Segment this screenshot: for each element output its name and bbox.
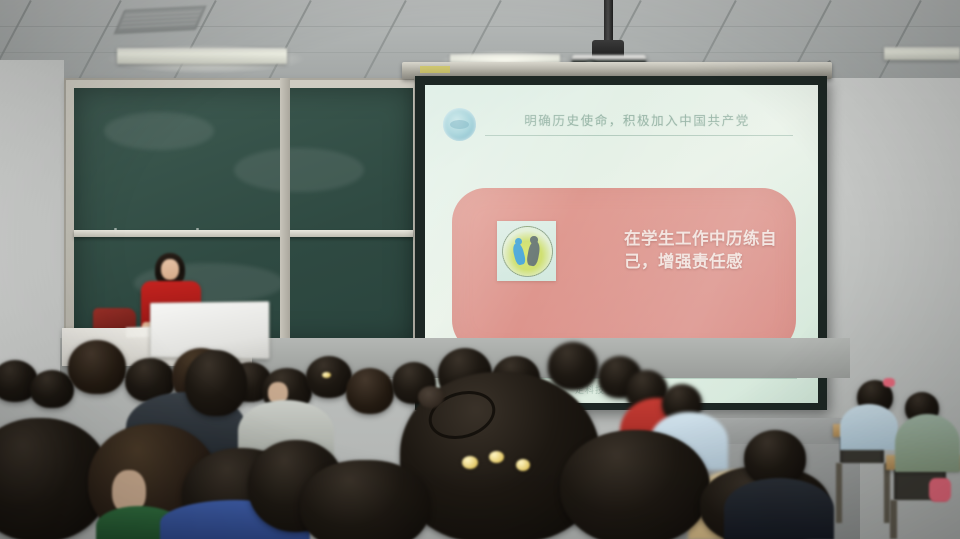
chalkboard-divider <box>280 78 290 350</box>
slide-body-text: 在学生工作中历练自 己，增强责任感 <box>624 228 790 275</box>
left-wall-panel <box>0 60 64 390</box>
classroom-photo: 明确历史使命，积极加入中国共产党 在学生工作中历练自 己，增强责任感 定科技学子… <box>0 0 960 539</box>
hair-clip-icon <box>322 372 331 378</box>
student-head <box>185 350 247 416</box>
student-head <box>346 368 394 414</box>
hair-clip-icon <box>489 451 504 463</box>
student-head-foreground <box>300 460 430 539</box>
desk-leg <box>836 463 842 523</box>
ceiling-air-vent <box>114 6 206 34</box>
chalk-rail <box>74 230 413 237</box>
student-work-association-emblem <box>497 221 556 281</box>
slide-title: 明确历史使命，积极加入中国共产党 <box>487 110 787 132</box>
student-head <box>548 342 598 390</box>
student-head-foreground <box>560 430 710 539</box>
slide-content-box: 在学生工作中历练自 己，增强责任感 <box>452 188 796 354</box>
hair-accessory <box>929 478 951 502</box>
student-head <box>30 370 74 408</box>
student-shoulder <box>724 478 834 539</box>
housing-sticker <box>420 66 450 73</box>
slide-title-divider <box>485 135 793 136</box>
hair-tie <box>418 386 444 408</box>
desk-leg <box>890 500 897 539</box>
university-seal-icon <box>443 108 476 141</box>
student-shoulder <box>840 404 898 450</box>
hair-accessory <box>883 378 895 387</box>
lecturer-face <box>161 259 179 280</box>
hair-clip-icon <box>462 456 478 469</box>
hair-clip-icon <box>516 459 530 471</box>
fluorescent-light-fixture <box>117 48 287 64</box>
student-shoulder <box>895 414 960 472</box>
student-head <box>68 340 126 394</box>
fluorescent-light-fixture <box>884 47 960 60</box>
